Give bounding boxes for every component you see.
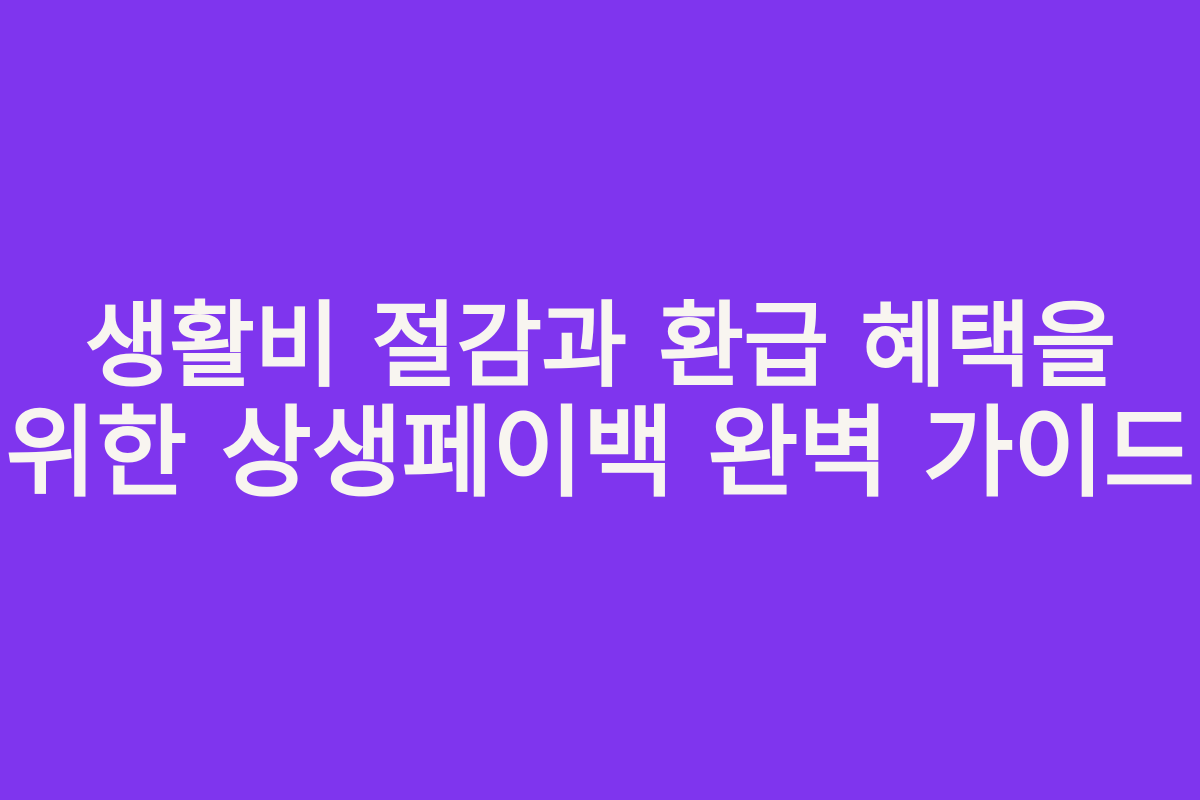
headline-line-1: 생활비 절감과 환급 혜택을 [0, 293, 1200, 400]
banner-canvas: 생활비 절감과 환급 혜택을 위한 상생페이백 완벽 가이드 [0, 0, 1200, 800]
page-title: 생활비 절감과 환급 혜택을 위한 상생페이백 완벽 가이드 [0, 293, 1200, 507]
headline-line-2: 위한 상생페이백 완벽 가이드 [0, 400, 1200, 507]
